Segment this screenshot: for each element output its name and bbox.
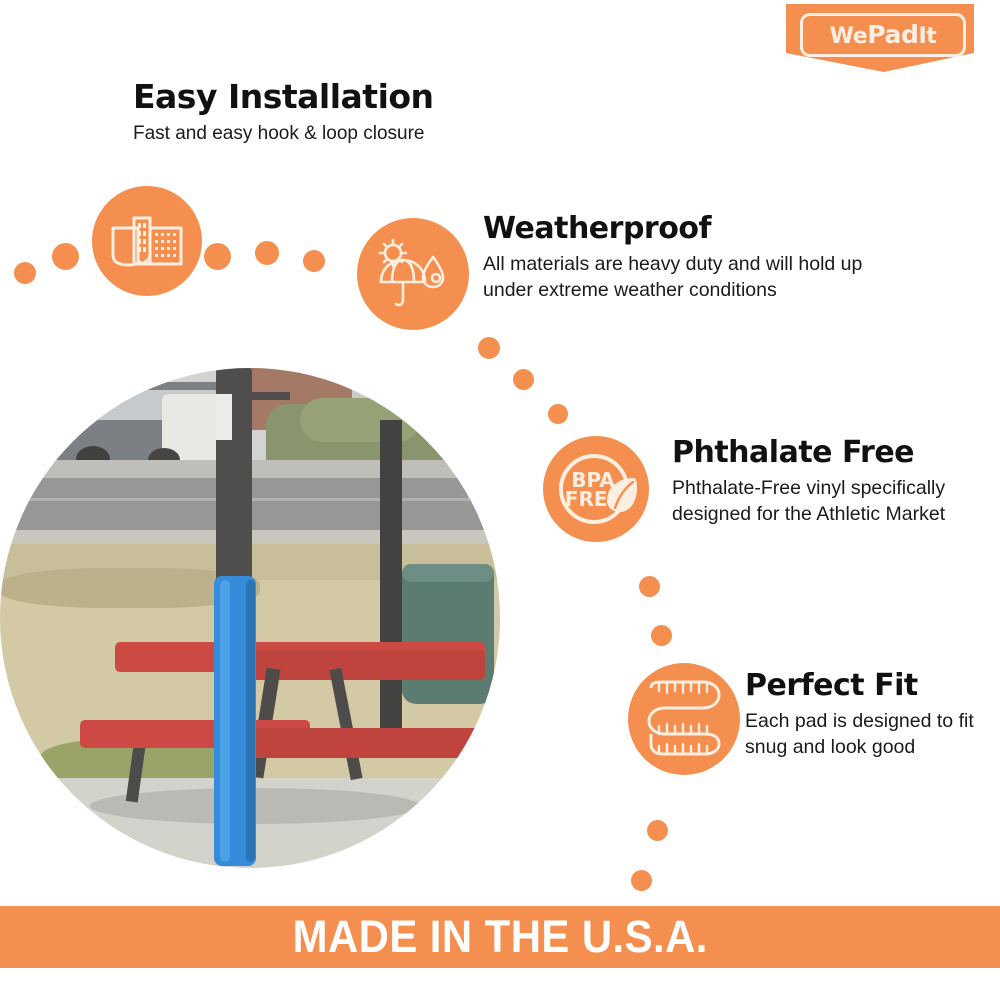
logo-text: WePadIt (830, 22, 937, 48)
feature-title: Easy Installation (133, 80, 593, 115)
trail-dot (52, 243, 79, 270)
bpa-free-leaf-icon: BPA FREE (549, 442, 643, 536)
brand-logo[interactable]: WePadIt (786, 4, 974, 72)
hook-and-loop-icon (110, 210, 184, 272)
feature-description: Each pad is designed to fit snug and loo… (745, 708, 980, 760)
icon-bubble-phthalate-free: BPA FREE (543, 436, 649, 542)
feature-phthalate-free: Phthalate Free Phthalate-Free vinyl spec… (672, 437, 972, 527)
logo-text-part-it: It (918, 24, 936, 49)
logo-text-part-pad: Pad (867, 20, 918, 49)
trail-dot (639, 576, 660, 597)
trail-dot (14, 262, 36, 284)
icon-bubble-perfect-fit (628, 663, 740, 775)
feature-title: Phthalate Free (672, 437, 972, 469)
feature-weatherproof: Weatherproof All materials are heavy dut… (483, 213, 903, 303)
feature-perfect-fit: Perfect Fit Each pad is designed to fit … (745, 670, 980, 760)
icon-bubble-easy-installation (92, 186, 202, 296)
logo-text-part-we: We (830, 24, 868, 49)
feature-title: Perfect Fit (745, 670, 980, 702)
icon-bubble-weatherproof (357, 218, 469, 330)
trail-dot (303, 250, 325, 272)
product-photo (0, 368, 500, 868)
sun-umbrella-raindrop-icon (375, 238, 451, 310)
trail-dot (204, 243, 231, 270)
trail-dot (255, 241, 279, 265)
feature-description: Fast and easy hook & loop closure (133, 121, 593, 146)
measuring-tape-icon (643, 678, 725, 760)
feature-description: Phthalate-Free vinyl specifically design… (672, 475, 972, 527)
feature-title: Weatherproof (483, 213, 903, 245)
feature-easy-installation: Easy Installation Fast and easy hook & l… (133, 80, 593, 146)
photo-overlay (0, 368, 500, 868)
infographic-stage: WePadIt (0, 0, 1000, 987)
trail-dot (478, 337, 500, 359)
logo-outline-box: WePadIt (800, 13, 966, 57)
trail-dot (548, 404, 568, 424)
made-in-usa-banner: MADE IN THE U.S.A. (0, 906, 1000, 968)
trail-dot (631, 870, 652, 891)
trail-dot (513, 369, 534, 390)
trail-dot (647, 820, 668, 841)
feature-description: All materials are heavy duty and will ho… (483, 251, 903, 303)
trail-dot (651, 625, 672, 646)
made-in-usa-text: MADE IN THE U.S.A. (292, 911, 707, 963)
